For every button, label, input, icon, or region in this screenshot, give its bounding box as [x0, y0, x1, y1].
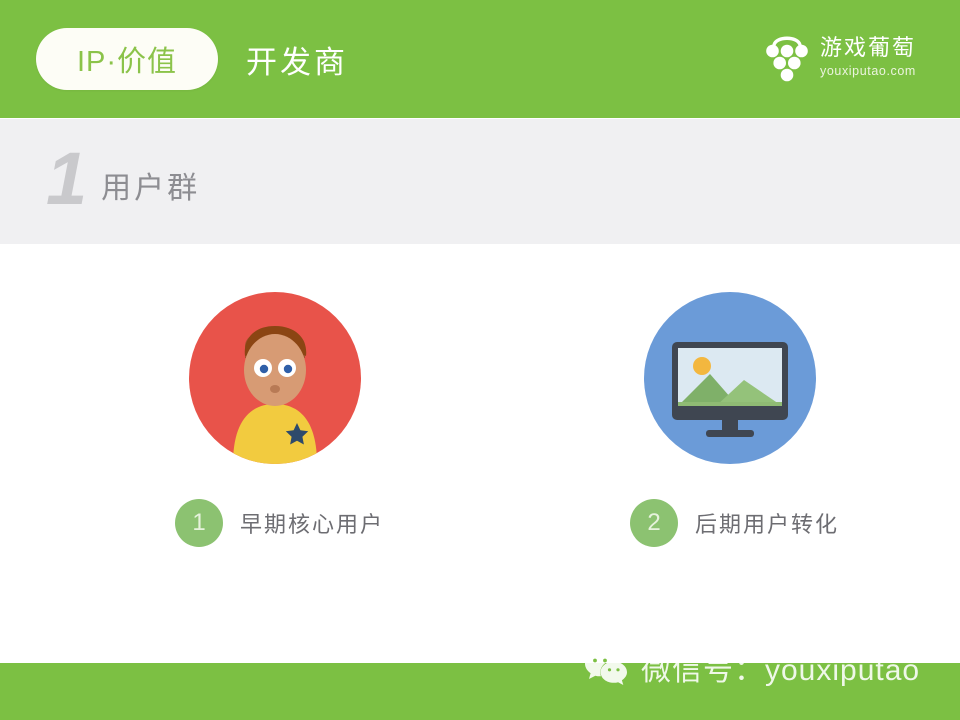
content-area: 1 早期核心用户: [0, 244, 960, 663]
brand-text-group: 游戏葡萄 youxiputao.com: [820, 36, 916, 77]
card-badge: 1: [175, 499, 223, 547]
header-pill-label: IP·价值: [77, 38, 177, 80]
wechat-icon: [585, 649, 627, 685]
card-caption-label: 后期用户转化: [695, 507, 839, 539]
card-caption-group: 2 后期用户转化: [630, 499, 839, 547]
header-title-group: IP·价值 开发商: [36, 28, 348, 90]
brand-url: youxiputao.com: [820, 64, 916, 78]
section-label: 用户群: [101, 163, 200, 213]
watermark-text: 微信号：youxiputao: [641, 645, 920, 689]
card-caption-group: 1 早期核心用户: [175, 499, 384, 547]
header-pill: IP·价值: [36, 28, 218, 90]
card-caption-label: 早期核心用户: [240, 507, 384, 539]
section-band: 1 用户群: [0, 119, 960, 244]
card-item: 2 后期用户转化: [630, 292, 890, 547]
section-heading: 1 用户群: [46, 145, 200, 213]
brand-name: 游戏葡萄: [820, 36, 916, 60]
card-list: 1 早期核心用户: [175, 292, 890, 547]
user-avatar-icon: [189, 292, 361, 464]
page-title: 开发商: [246, 37, 348, 82]
section-number: 1: [46, 145, 85, 213]
slide: IP·价值 开发商 游戏葡萄 youxiputao.com: [0, 0, 960, 720]
desktop-monitor-icon: [644, 292, 816, 464]
card-badge: 2: [630, 499, 678, 547]
grape-cluster-icon: [765, 31, 809, 83]
brand-logo: 游戏葡萄 youxiputao.com: [765, 31, 916, 83]
watermark: 微信号：youxiputao: [585, 645, 920, 689]
card-item: 1 早期核心用户: [175, 292, 435, 547]
header-band: IP·价值 开发商 游戏葡萄 youxiputao.com: [0, 0, 960, 118]
